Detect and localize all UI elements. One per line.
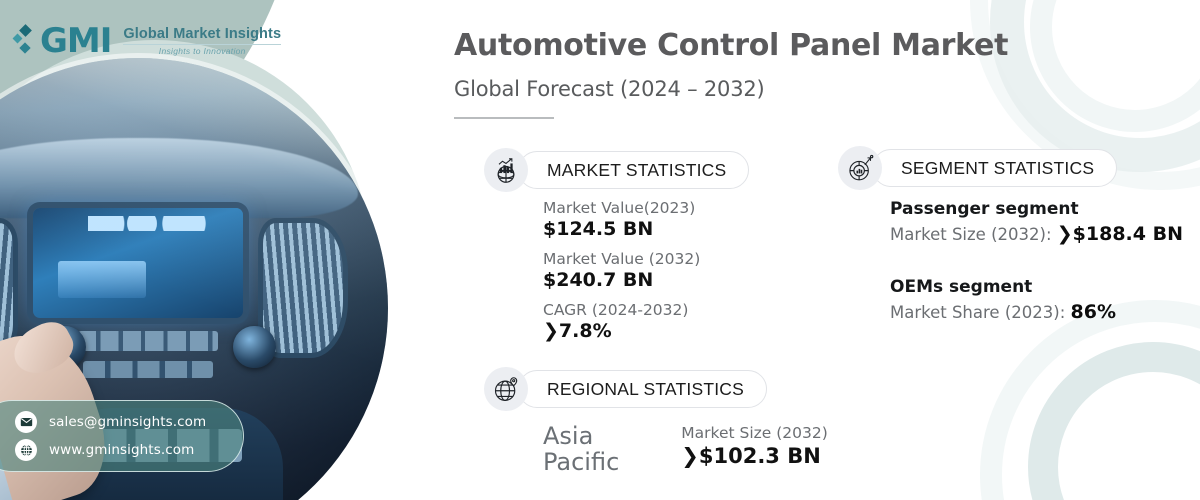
segment-metric-value: ❯$188.4 BN [1057,223,1183,245]
region-metric: Market Size (2032) ❯$102.3 BN [681,424,828,468]
segment-block: OEMs segment Market Share (2023): 86% [890,277,1183,323]
decorative-arc-bottom-right [1028,342,1200,500]
stat-row: CAGR (2024-2032) ❯7.8% [543,301,700,342]
header-divider [454,117,554,119]
globe-icon [15,439,37,461]
market-statistics-list: Market Value(2023) $124.5 BN Market Valu… [543,199,700,352]
page-subtitle: Global Forecast (2024 – 2032) [454,77,1008,101]
market-statistics-header: MARKET STATISTICS [484,148,749,192]
segment-title: OEMs segment [890,277,1183,297]
segment-metric-value: 86% [1071,301,1116,323]
segment-metric: Market Size (2032): ❯$188.4 BN [890,223,1183,245]
segment-statistics-label: SEGMENT STATISTICS [872,149,1117,187]
stat-value: $240.7 BN [543,269,700,291]
stat-label: CAGR (2024-2032) [543,301,700,319]
stat-value: $124.5 BN [543,218,700,240]
globe-pin-icon [484,367,528,411]
region-metric-value: ❯$102.3 BN [681,444,828,468]
region-name: Asia Pacific [543,424,619,475]
logo-tagline: Insights to Innovation [123,46,281,56]
market-statistics-label: MARKET STATISTICS [518,151,749,189]
segment-statistics-header: SEGMENT STATISTICS [838,146,1117,190]
region-metric-label: Market Size (2032) [681,424,828,442]
infographic-canvas: GMI Global Market Insights Insights to I… [0,0,1200,500]
globe-bar-chart-icon [484,148,528,192]
contact-website-row[interactable]: www.gminsights.com [15,439,243,461]
stat-label: Market Value(2023) [543,199,700,217]
contact-website: www.gminsights.com [49,442,194,458]
stat-label: Market Value (2032) [543,250,700,268]
stat-row: Market Value (2032) $240.7 BN [543,250,700,291]
logo-divider [123,44,281,45]
segment-metric-label: Market Size (2032): [890,225,1057,244]
segment-metric: Market Share (2023): 86% [890,301,1183,323]
contact-email: sales@gminsights.com [49,414,206,430]
header: Automotive Control Panel Market Global F… [454,28,1008,119]
regional-statistics-list: Asia Pacific Market Size (2032) ❯$102.3 … [543,424,828,475]
stat-value: ❯7.8% [543,320,700,342]
donut-chart-arrow-icon [838,146,882,190]
page-title: Automotive Control Panel Market [454,28,1008,63]
logo-company-name: Global Market Insights [123,26,281,42]
stat-row: Market Value(2023) $124.5 BN [543,199,700,240]
logo-wordmark: Global Market Insights Insights to Innov… [123,26,281,56]
decorative-arc-bottom-right-outer [980,300,1200,500]
regional-statistics-header: REGIONAL STATISTICS [484,367,767,411]
decorative-arc-top-right-inner [1030,0,1200,132]
regional-statistics-label: REGIONAL STATISTICS [518,370,767,408]
contact-email-row[interactable]: sales@gminsights.com [15,411,243,433]
envelope-icon [15,411,37,433]
segment-title: Passenger segment [890,199,1183,219]
segment-metric-label: Market Share (2023): [890,303,1071,322]
gmi-diamond-logo-icon [14,24,32,58]
region-name-line1: Asia [543,424,619,450]
contact-panel: sales@gminsights.com www.gminsights.com [0,400,244,472]
brand-logo[interactable]: GMI Global Market Insights Insights to I… [14,24,281,58]
logo-initials: GMI [40,24,111,58]
segment-block: Passenger segment Market Size (2032): ❯$… [890,199,1183,245]
segment-statistics-list: Passenger segment Market Size (2032): ❯$… [890,199,1183,323]
region-name-line2: Pacific [543,450,619,476]
